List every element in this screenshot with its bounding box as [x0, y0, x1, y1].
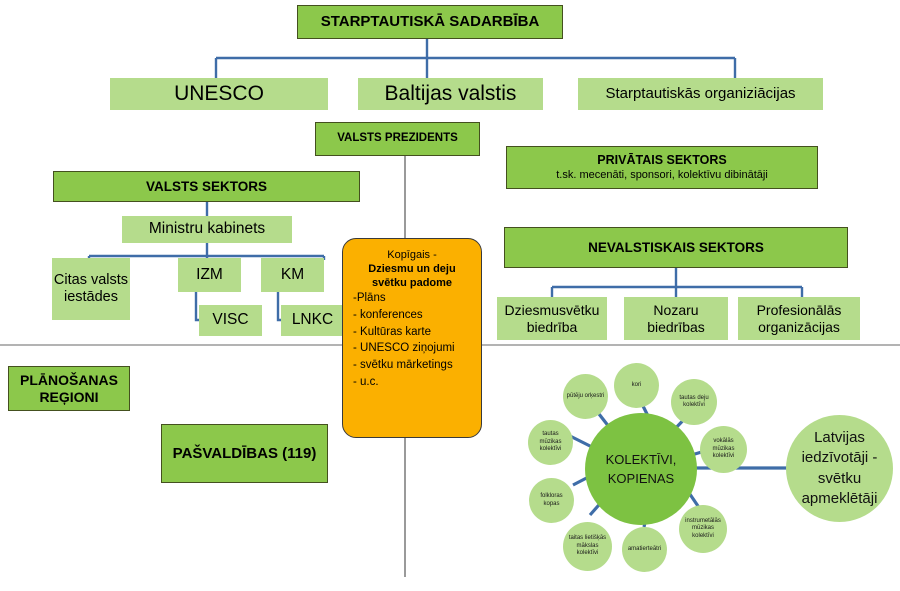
satellite-circle-kori: kori [614, 363, 659, 408]
baltic-states-box: Baltijas valstis [358, 78, 543, 110]
visc-box: VISC [199, 305, 262, 336]
ngo-item-branch-societies-box: Nozaru biedrības [624, 297, 728, 340]
visc-label: VISC [212, 311, 248, 329]
satellite-circle-folk-dance: tautas deju kolektīvi [671, 379, 717, 425]
ngo-sector-header-label: NEVALSTISKAIS SEKTORS [588, 240, 764, 256]
ngo-item-label: Dziesmusvētku biedrība [497, 302, 607, 335]
president-box: VALSTS PREZIDENTS [315, 122, 480, 156]
council-line1: Kopīgais - [351, 249, 473, 263]
planning-regions-label: PLĀNOŠANAS REĢIONI [9, 372, 129, 405]
planning-regions-box: PLĀNOŠANAS REĢIONI [8, 366, 130, 411]
lnkc-label: LNKC [292, 311, 333, 329]
council-bullet: -Plāns [351, 290, 473, 307]
satellite-circle-amateur-theatres: amatierteātri [622, 527, 667, 572]
satellite-label: vokālās mūzikas kolektīvi [703, 438, 744, 461]
council-bullet: - UNESCO ziņojumi [351, 340, 473, 357]
president-label: VALSTS PREZIDENTS [337, 132, 458, 146]
other-state-institutions-box: Citas valsts iestādes [52, 258, 130, 320]
satellite-label: tautas mūzikas kolektīvi [531, 431, 570, 454]
council-box: Kopīgais - Dziesmu un deju svētku padome… [342, 238, 482, 438]
council-bullet: - konferences [351, 307, 473, 324]
satellite-circle-folklore-groups: folkloras kopas [529, 478, 574, 523]
title-box: STARPTAUTISKĀ SADARBĪBA [297, 5, 563, 39]
ngo-item-label: Profesionālās organizācijas [738, 302, 860, 335]
municipalities-box: PAŠVALDĪBAS (119) [161, 424, 328, 483]
intl-organizations-label: Starptautiskās organiziācijas [605, 85, 795, 103]
private-sector-sub-label: t.sk. mecenāti, sponsori, kolektīvu dibi… [556, 169, 768, 182]
satellite-label: instrumetālās mūzikas kolektīvi [682, 518, 724, 541]
ngo-item-professional-orgs-box: Profesionālās organizācijas [738, 297, 860, 340]
council-line3: svētku padome [351, 277, 473, 291]
unesco-box: UNESCO [110, 78, 328, 110]
satellite-circle-folk-music: tautas mūzikas kolektīvi [528, 420, 573, 465]
satellite-label: kori [632, 382, 642, 390]
ngo-sector-header-box: NEVALSTISKAIS SEKTORS [504, 227, 848, 268]
satellite-circle-instrumental-music: instrumetālās mūzikas kolektīvi [679, 505, 727, 553]
km-box: KM [261, 258, 324, 292]
diagram-canvas: STARPTAUTISKĀ SADARBĪBA UNESCO Baltijas … [0, 0, 900, 591]
state-sector-header-label: VALSTS SEKTORS [146, 179, 267, 195]
satellite-label: taitas lietišķās mākslas kolektīvi [566, 535, 609, 558]
other-state-institutions-label: Citas valsts iestādes [52, 272, 130, 306]
cabinet-box: Ministru kabinets [122, 216, 292, 243]
cabinet-label: Ministru kabinets [149, 220, 265, 238]
ngo-item-label: Nozaru biedrības [624, 302, 728, 335]
council-bullet: - Kultūras karte [351, 324, 473, 341]
satellite-circle-vocal-music: vokālās mūzikas kolektīvi [700, 426, 747, 473]
network-hub-line2: KOPIENAS [608, 469, 674, 489]
audience-circle: Latvijas iedzīvotāji - svētku apmeklētāj… [786, 415, 893, 522]
lnkc-box: LNKC [281, 305, 344, 336]
satellite-label: tautas deju kolektīvi [674, 395, 714, 410]
satellite-circle-applied-arts: taitas lietišķās mākslas kolektīvi [563, 522, 612, 571]
satellite-circle-wind-orchestras: pūtēju orķestri [563, 374, 608, 419]
network-hub-line1: KOLEKTĪVI, [606, 450, 677, 470]
audience-label: Latvijas iedzīvotāji - svētku apmeklētāj… [790, 428, 889, 509]
baltic-states-label: Baltijas valstis [385, 82, 517, 107]
unesco-label: UNESCO [174, 82, 264, 107]
council-bullet: - u.c. [351, 374, 473, 391]
satellite-label: folkloras kopas [532, 493, 571, 508]
satellite-label: amatierteātri [628, 546, 661, 554]
satellite-label: pūtēju orķestri [567, 393, 605, 401]
network-hub-circle: KOLEKTĪVI, KOPIENAS [585, 413, 697, 525]
private-sector-box: PRIVĀTAIS SEKTORS t.sk. mecenāti, sponso… [506, 146, 818, 189]
intl-organizations-box: Starptautiskās organiziācijas [578, 78, 823, 110]
ngo-item-choir-society-box: Dziesmusvētku biedrība [497, 297, 607, 340]
private-sector-header-label: PRIVĀTAIS SEKTORS [597, 153, 726, 168]
izm-box: IZM [178, 258, 241, 292]
council-bullet: - svētku mārketings [351, 357, 473, 374]
municipalities-label: PAŠVALDĪBAS (119) [173, 445, 317, 463]
council-line2: Dziesmu un deju [351, 263, 473, 277]
km-label: KM [281, 266, 304, 284]
izm-label: IZM [196, 266, 223, 284]
title-label: STARPTAUTISKĀ SADARBĪBA [321, 13, 540, 31]
state-sector-header-box: VALSTS SEKTORS [53, 171, 360, 202]
